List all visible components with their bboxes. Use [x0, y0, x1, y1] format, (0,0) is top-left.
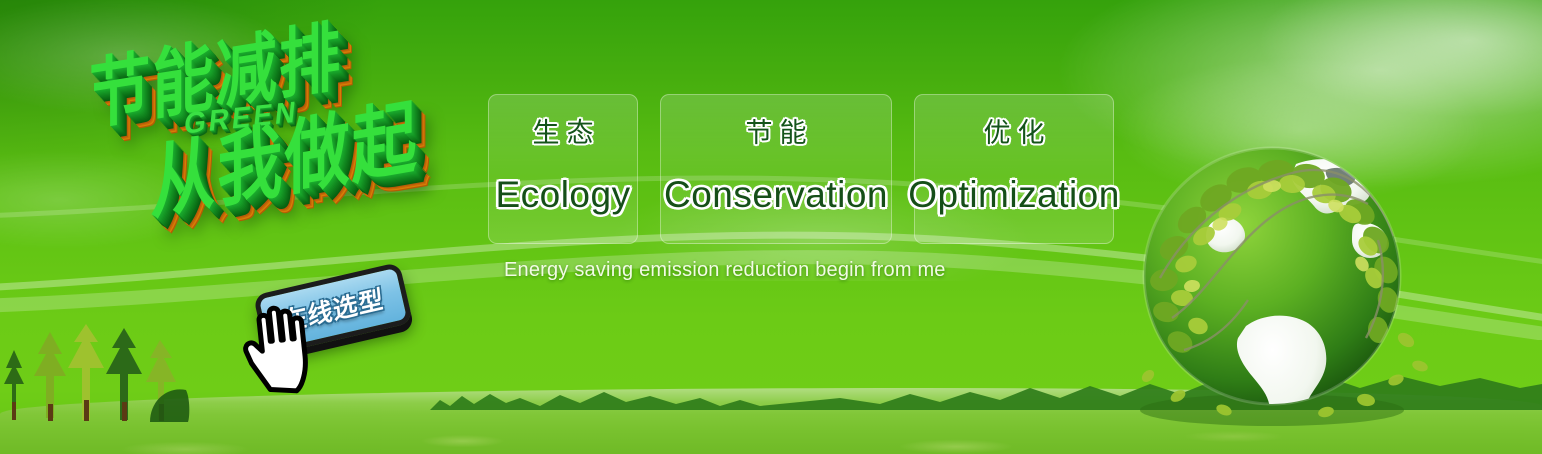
feature-card-en-label: Optimization	[908, 174, 1120, 216]
feature-card-list: 生态 Ecology 节能 Conservation 优化 Optimizati…	[488, 94, 1114, 244]
feature-card-en-label: Conservation	[664, 174, 888, 216]
conifer-tree-cluster	[0, 324, 190, 422]
online-selection-button[interactable]: 在线选型	[253, 262, 413, 356]
feature-card-ecology[interactable]: 生态 Ecology	[488, 94, 638, 244]
leafy-earth-globe-icon	[1120, 128, 1430, 433]
headline-3d: 节能减排 GREEN 从我做起	[85, 13, 518, 295]
grass-texture	[0, 408, 1542, 454]
button-label: 在线选型	[280, 279, 385, 338]
feature-card-conservation[interactable]: 节能 Conservation	[660, 94, 892, 244]
feature-card-cn-label: 生态	[526, 111, 601, 150]
grass-field	[0, 388, 1542, 454]
tagline-text: Energy saving emission reduction begin f…	[504, 259, 946, 282]
headline-line-1: 节能减排	[89, 0, 495, 136]
feature-card-cn-label: 节能	[739, 111, 814, 150]
feature-card-en-label: Ecology	[495, 174, 630, 216]
promo-banner: 节能减排 GREEN 从我做起 在线选型 生态 Ecology 节能 Conse…	[0, 0, 1542, 454]
headline-sub-green: GREEN	[183, 76, 502, 139]
headline-line-2: 从我做起	[150, 80, 503, 224]
feature-card-optimization[interactable]: 优化 Optimization	[914, 94, 1114, 244]
button-face[interactable]: 在线选型	[253, 262, 413, 356]
feature-card-cn-label: 优化	[977, 111, 1052, 150]
